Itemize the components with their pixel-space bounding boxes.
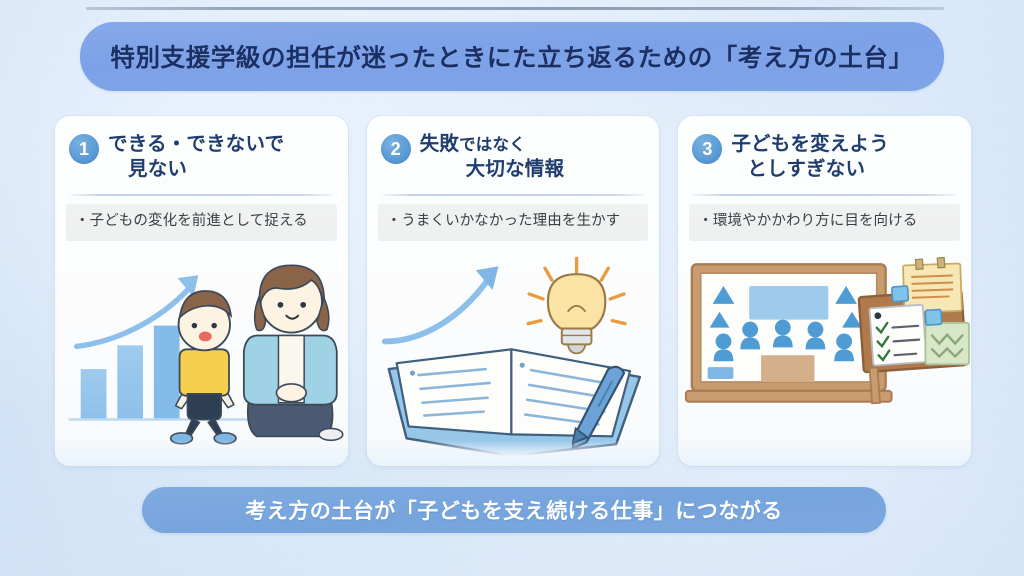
title-banner: 特別支援学級の担任が迷ったときにた立ち返るための「考え方の土台」 [80, 22, 944, 91]
cards-row: 1 できる・できないで 見ない ・子どもの変化を前進として捉える [55, 116, 971, 466]
card-3-heading-line1: 子どもを変えよう [731, 133, 889, 155]
card-2-bullet-band: ・うまくいかなかった理由を生かす [378, 204, 649, 241]
card-2-illustration [367, 248, 660, 466]
card-3-bullet-text: ・環境やかかわり方に目を向ける [698, 211, 951, 232]
card-3-header: 3 子どもを変えよう としすぎない [678, 116, 971, 183]
card-1-heading-line1: できる・できないで [108, 133, 284, 155]
card-3-footer-band [678, 440, 971, 466]
card-2-heading-line1-rest: ではなく [459, 136, 526, 154]
card-2-bullet-text: ・うまくいかなかった理由を生かす [387, 211, 640, 232]
card-1[interactable]: 1 できる・できないで 見ない ・子どもの変化を前進として捉える [55, 116, 348, 466]
card-3-divider [693, 194, 956, 196]
footer-message: 考え方の土台が「子どもを支え続ける仕事」につながる [245, 495, 783, 525]
card-2-number-badge: 2 [381, 134, 411, 164]
card-1-illustration [55, 248, 348, 466]
card-1-bullet-band: ・子どもの変化を前進として捉える [66, 204, 337, 241]
card-1-bullet-text: ・子どもの変化を前進として捉える [75, 211, 328, 232]
footer-banner: 考え方の土台が「子どもを支え続ける仕事」につながる [142, 487, 886, 533]
card-1-divider [70, 194, 333, 196]
card-3-bullet-band: ・環境やかかわり方に目を向ける [689, 204, 960, 241]
card-2-footer-band [367, 440, 660, 466]
top-divider-rule [86, 7, 944, 10]
page-title: 特別支援学級の担任が迷ったときにた立ち返るための「考え方の土台」 [110, 39, 913, 74]
card-1-header: 1 できる・できないで 見ない [55, 116, 348, 183]
card-3-number-badge: 3 [692, 134, 722, 164]
card-2-heading-emphasis: 失敗 [420, 133, 459, 155]
card-1-number-badge: 1 [69, 134, 99, 164]
card-3[interactable]: 3 子どもを変えよう としすぎない ・環境やかかわり方に目を向ける [678, 116, 971, 466]
card-3-illustration [678, 248, 971, 466]
card-3-heading: 子どもを変えよう としすぎない [731, 132, 889, 183]
card-2-heading-line2: 大切な情報 [420, 157, 565, 182]
card-1-heading: できる・できないで 見ない [108, 132, 284, 183]
card-2-heading: 失敗ではなく 大切な情報 [420, 132, 565, 183]
card-2-divider [382, 194, 645, 196]
card-1-heading-line2: 見ない [108, 157, 284, 182]
card-2[interactable]: 2 失敗ではなく 大切な情報 ・うまくいかなかった理由を生かす [367, 116, 660, 466]
card-3-heading-line2: としすぎない [731, 157, 889, 182]
card-1-footer-band [55, 440, 348, 466]
card-2-header: 2 失敗ではなく 大切な情報 [367, 116, 660, 183]
